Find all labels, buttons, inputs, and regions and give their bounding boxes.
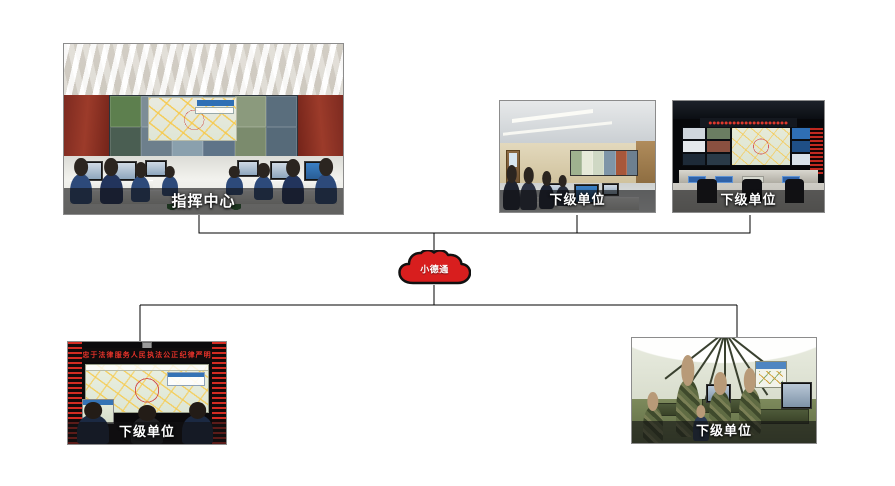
node-command-center[interactable]: 指挥中心 <box>63 43 344 215</box>
node-sub-unit-4[interactable]: 下级单位 <box>631 337 817 444</box>
node-label-sub-unit-3: 下级单位 <box>68 422 226 444</box>
line-top-bus <box>199 215 750 233</box>
cloud-shape <box>398 250 471 287</box>
node-label-command-center: 指挥中心 <box>64 188 343 214</box>
node-sub-unit-2[interactable]: ●●●●●●●●●●●●●●●●●●●● <box>672 100 825 213</box>
node-sub-unit-3[interactable]: 忠于法律服务人民执法公正纪律严明 下级单位 <box>67 341 227 445</box>
node-label-sub-unit-1: 下级单位 <box>500 190 655 212</box>
cloud-node[interactable]: 小德通 <box>398 250 471 287</box>
node-label-sub-unit-4: 下级单位 <box>632 421 816 443</box>
node-label-sub-unit-2: 下级单位 <box>673 190 824 212</box>
node-sub-unit-1[interactable]: 下级单位 <box>499 100 656 213</box>
diagram-canvas: 指挥中心 <box>0 0 895 486</box>
